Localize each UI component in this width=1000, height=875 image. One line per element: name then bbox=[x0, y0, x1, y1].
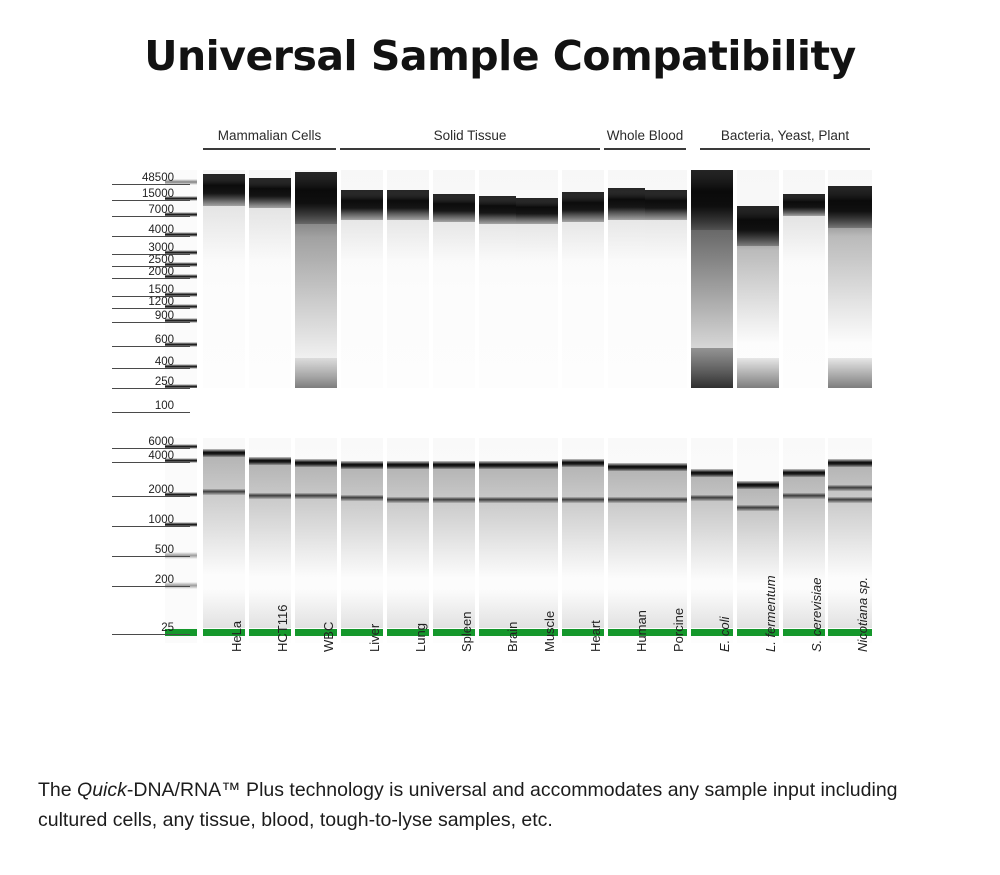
gel-lane bbox=[203, 170, 245, 388]
ladder-tick-line bbox=[112, 236, 190, 237]
ladder-marker: 900 bbox=[112, 309, 190, 323]
caption-part2: -DNA/RNA™ Plus technology is universal a… bbox=[38, 779, 898, 831]
rrna-band bbox=[737, 505, 779, 511]
ladder-marker: 600 bbox=[112, 333, 190, 347]
ladder-marker: 15000 bbox=[112, 187, 190, 201]
gel-lane bbox=[341, 438, 383, 643]
ladder-marker: 25 bbox=[112, 621, 190, 635]
figure-root: Universal Sample Compatibility Mammalian… bbox=[0, 0, 1000, 875]
ladder-tick-line bbox=[112, 184, 190, 185]
rrna-band bbox=[295, 459, 337, 467]
ladder-size-label: 1000 bbox=[148, 514, 174, 526]
ladder-size-label: 4000 bbox=[148, 224, 174, 236]
hmw-band bbox=[737, 206, 779, 246]
group-header-whole-blood: Whole Blood bbox=[604, 128, 686, 150]
gel-panel-dna-gel: 4850015000700040003000250020001500120090… bbox=[0, 170, 1000, 388]
figure-caption: The Quick-DNA/RNA™ Plus technology is un… bbox=[38, 775, 968, 835]
hmw-band bbox=[203, 174, 245, 206]
gel-lane bbox=[562, 170, 604, 388]
gel-lane bbox=[387, 438, 429, 643]
low-smear bbox=[828, 358, 872, 388]
ladder-marker: 4000 bbox=[112, 223, 190, 237]
group-header-bacteria-yeast-plant: Bacteria, Yeast, Plant bbox=[700, 128, 870, 150]
rrna-band bbox=[608, 463, 650, 471]
gel-lane bbox=[516, 170, 558, 388]
gel-lane bbox=[645, 170, 687, 388]
ladder-size-label: 100 bbox=[155, 400, 174, 412]
low-smear bbox=[691, 348, 733, 388]
ladder-tick-line bbox=[112, 200, 190, 201]
rrna-band bbox=[516, 461, 558, 469]
lane-background bbox=[165, 438, 197, 643]
ladder-tick-line bbox=[112, 278, 190, 279]
rrna-band bbox=[608, 497, 650, 503]
ladder-tick-line bbox=[112, 526, 190, 527]
rrna-band bbox=[341, 495, 383, 501]
rrna-band bbox=[433, 461, 475, 469]
rrna-band bbox=[203, 489, 245, 495]
gel-lane bbox=[341, 170, 383, 388]
ladder-size-label: 2000 bbox=[148, 266, 174, 278]
ladder-marker: 2000 bbox=[112, 265, 190, 279]
hmw-band bbox=[479, 196, 521, 224]
rrna-band bbox=[295, 493, 337, 499]
low-smear bbox=[341, 588, 383, 628]
sample-label-nicotiana-sp: Nicotiana sp. bbox=[856, 577, 869, 652]
ladder-size-label: 7000 bbox=[148, 204, 174, 216]
ladder-marker: 1000 bbox=[112, 513, 190, 527]
ladder-marker: 6000 bbox=[112, 435, 190, 449]
sample-label-s-cerevisiae: S. cerevisiae bbox=[810, 578, 823, 652]
gel-lane bbox=[783, 170, 825, 388]
ladder-size-label: 400 bbox=[155, 356, 174, 368]
gel-lane bbox=[249, 170, 291, 388]
sample-label-hela: HeLa bbox=[230, 621, 243, 652]
ladder-size-label: 4000 bbox=[148, 450, 174, 462]
hmw-band bbox=[295, 172, 337, 224]
ladder-marker: 100 bbox=[112, 399, 190, 413]
rrna-band bbox=[433, 497, 475, 503]
sample-label-porcine: Porcine bbox=[672, 608, 685, 652]
ladder-tick-line bbox=[112, 322, 190, 323]
ladder-size-label: 250 bbox=[155, 376, 174, 388]
ladder-marker: 1200 bbox=[112, 295, 190, 309]
hmw-band bbox=[249, 178, 291, 208]
ladder-marker: 200 bbox=[112, 573, 190, 587]
group-label: Whole Blood bbox=[604, 128, 686, 143]
ladder-tick-line bbox=[112, 412, 190, 413]
gel-lane bbox=[608, 170, 650, 388]
caption-product-name: Quick bbox=[77, 779, 127, 801]
ladder-marker: 400 bbox=[112, 355, 190, 369]
group-rule bbox=[203, 148, 336, 150]
ladder-size-label: 48500 bbox=[142, 172, 174, 184]
sample-label-heart: Heart bbox=[589, 620, 602, 652]
gel-lane bbox=[562, 438, 604, 643]
group-label: Mammalian Cells bbox=[203, 128, 336, 143]
gel-lane bbox=[165, 438, 197, 643]
ladder-size-label: 15000 bbox=[142, 188, 174, 200]
caption-part1: The bbox=[38, 779, 77, 801]
rrna-band bbox=[479, 497, 521, 503]
low-smear bbox=[737, 358, 779, 388]
hmw-band bbox=[691, 170, 733, 230]
ladder-size-label: 6000 bbox=[148, 436, 174, 448]
ladder-tick-line bbox=[112, 388, 190, 389]
ladder-tick-line bbox=[112, 556, 190, 557]
hmw-band bbox=[783, 194, 825, 216]
group-label: Bacteria, Yeast, Plant bbox=[700, 128, 870, 143]
ladder-size-label: 2000 bbox=[148, 484, 174, 496]
sample-label-human: Human bbox=[635, 610, 648, 652]
gel-lane bbox=[828, 170, 872, 388]
low-smear bbox=[387, 588, 429, 628]
gel-lane bbox=[691, 438, 733, 643]
gel-lane bbox=[295, 438, 337, 643]
group-label: Solid Tissue bbox=[340, 128, 600, 143]
rrna-band bbox=[828, 459, 872, 467]
rrna-band bbox=[783, 493, 825, 499]
group-rule bbox=[604, 148, 686, 150]
rrna-band bbox=[249, 457, 291, 465]
ladder-marker: 250 bbox=[112, 375, 190, 389]
ladder-tick-line bbox=[112, 462, 190, 463]
group-header-solid-tissue: Solid Tissue bbox=[340, 128, 600, 150]
gel-lane bbox=[433, 170, 475, 388]
gel-lane bbox=[295, 170, 337, 388]
sample-label-brain: Brain bbox=[506, 622, 519, 652]
rrna-band bbox=[828, 497, 872, 503]
ladder-size-label: 600 bbox=[155, 334, 174, 346]
sample-label-e-coli: E. coli bbox=[718, 617, 731, 652]
page-title: Universal Sample Compatibility bbox=[0, 32, 1000, 80]
group-rule bbox=[340, 148, 600, 150]
ladder-tick-line bbox=[112, 496, 190, 497]
ladder-marker: 48500 bbox=[112, 171, 190, 185]
ladder-tick-line bbox=[112, 634, 190, 635]
gel-lane bbox=[203, 438, 245, 643]
ladder-size-label: 1200 bbox=[148, 296, 174, 308]
ladder-tick-line bbox=[112, 346, 190, 347]
rrna-band bbox=[387, 497, 429, 503]
rrna-band bbox=[691, 495, 733, 501]
sample-label-hct116: HCT116 bbox=[276, 605, 289, 652]
ladder-size-label: 900 bbox=[155, 310, 174, 322]
gel-lane bbox=[387, 170, 429, 388]
ladder-tick-line bbox=[112, 586, 190, 587]
group-header-mammalian-cells: Mammalian Cells bbox=[203, 128, 336, 150]
rrna-band bbox=[562, 497, 604, 503]
rrna-band bbox=[479, 461, 521, 469]
group-rule bbox=[700, 148, 870, 150]
rrna-band bbox=[691, 469, 733, 477]
rrna-band bbox=[783, 469, 825, 477]
ladder-size-label: 500 bbox=[155, 544, 174, 556]
ladder-marker: 500 bbox=[112, 543, 190, 557]
sample-label-lung: Lung bbox=[414, 623, 427, 652]
ladder-marker: 2000 bbox=[112, 483, 190, 497]
rrna-band bbox=[562, 459, 604, 467]
hmw-band bbox=[645, 190, 687, 220]
sample-label-spleen: Spleen bbox=[460, 612, 473, 652]
ladder-marker: 4000 bbox=[112, 449, 190, 463]
rrna-band bbox=[249, 493, 291, 499]
rrna-band bbox=[387, 461, 429, 469]
low-smear bbox=[295, 358, 337, 388]
gel-lane bbox=[691, 170, 733, 388]
rrna-band bbox=[516, 497, 558, 503]
gel-panel-rna-gel: 600040002000100050020025 bbox=[0, 438, 1000, 643]
sample-label-liver: Liver bbox=[368, 624, 381, 652]
hmw-band bbox=[562, 192, 604, 222]
ladder-tick-line bbox=[112, 368, 190, 369]
rrna-band bbox=[828, 485, 872, 491]
rrna-band bbox=[645, 463, 687, 471]
sample-label-wbc: WBC bbox=[322, 622, 335, 652]
sample-label-muscle: Muscle bbox=[543, 611, 556, 652]
sample-label-l-fermentum: L. fermentum bbox=[764, 575, 777, 652]
hmw-band bbox=[387, 190, 429, 220]
rrna-band bbox=[737, 481, 779, 489]
hmw-band bbox=[516, 198, 558, 224]
gel-lane bbox=[479, 438, 521, 643]
hmw-band bbox=[433, 194, 475, 222]
ladder-marker: 7000 bbox=[112, 203, 190, 217]
rrna-band bbox=[203, 449, 245, 457]
gel-lane bbox=[479, 170, 521, 388]
hmw-band bbox=[341, 190, 383, 220]
ladder-size-label: 25 bbox=[161, 622, 174, 634]
hmw-band bbox=[828, 186, 872, 228]
rrna-band bbox=[341, 461, 383, 469]
ladder-tick-line bbox=[112, 216, 190, 217]
gel-lane bbox=[737, 170, 779, 388]
hmw-band bbox=[608, 188, 650, 220]
ladder-size-label: 200 bbox=[155, 574, 174, 586]
rrna-band bbox=[645, 497, 687, 503]
